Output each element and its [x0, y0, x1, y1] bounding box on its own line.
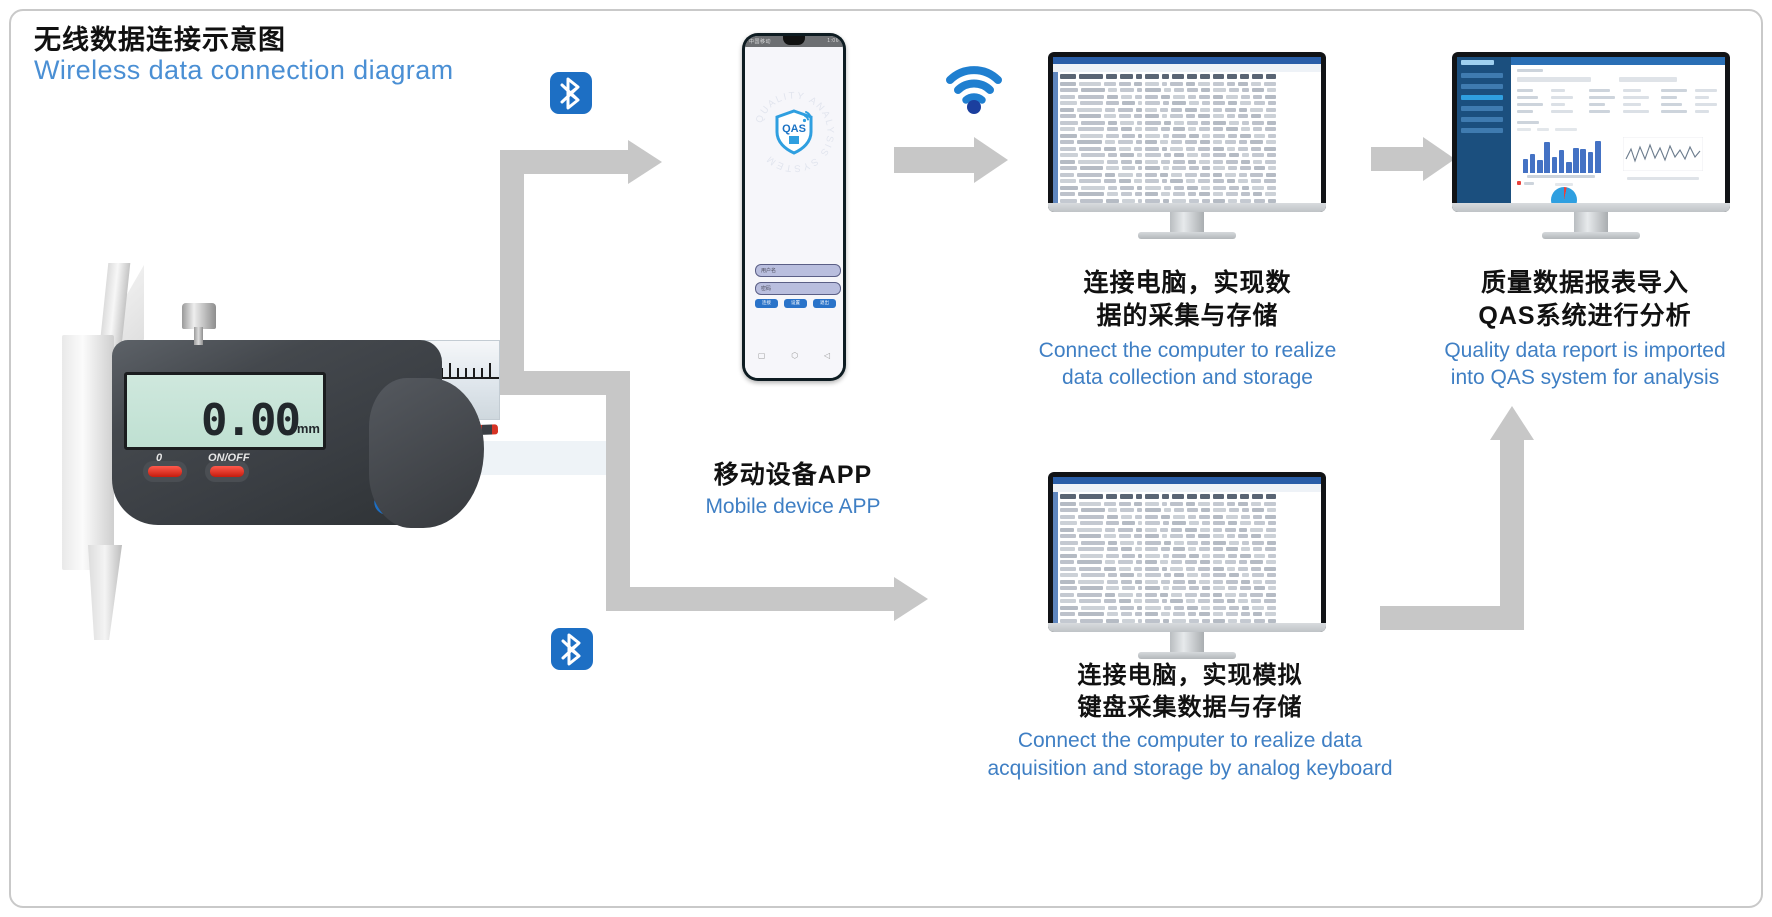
spreadsheet-view-2: [1053, 477, 1321, 623]
table-cell: [1136, 140, 1142, 144]
table-cell: [1161, 192, 1170, 196]
dashboard-section-title-2: [1517, 121, 1539, 124]
table-cell: [1201, 573, 1210, 577]
caliper-power-button[interactable]: [210, 466, 244, 477]
table-cell: [1161, 612, 1170, 616]
table-cell: [1138, 586, 1142, 590]
table-row: [1060, 508, 1318, 512]
table-cell: [1162, 82, 1167, 86]
table-cell: [1213, 502, 1224, 506]
table-cell: [1104, 179, 1116, 183]
dashboard-nav-item-6[interactable]: [1461, 128, 1503, 133]
table-row: [1060, 140, 1318, 144]
table-row: [1060, 567, 1318, 571]
table-row: [1060, 166, 1318, 170]
table-cell: [1105, 140, 1115, 144]
table-cell: [1145, 192, 1158, 196]
dashboard-pie-chart: [1551, 187, 1577, 203]
table-cell: [1060, 127, 1075, 131]
table-cell: [1120, 74, 1133, 79]
table-cell: [1077, 593, 1102, 597]
table-row: [1060, 108, 1318, 112]
table-cell: [1264, 114, 1276, 118]
table-cell: [1186, 567, 1195, 571]
circle-icon[interactable]: ⬡: [791, 351, 798, 360]
table-cell: [1200, 173, 1210, 177]
table-cell: [1265, 127, 1276, 131]
table-cell: [1119, 599, 1131, 603]
table-cell: [1080, 199, 1103, 203]
table-cell: [1228, 586, 1237, 590]
table-cell: [1268, 199, 1276, 203]
dashboard-filter-1[interactable]: [1517, 77, 1591, 82]
table-cell: [1079, 82, 1101, 86]
dashboard-chart-tab-3[interactable]: [1555, 128, 1577, 131]
table-cell: [1135, 127, 1142, 131]
table-cell: [1188, 612, 1196, 616]
dashboard-nav-item-1[interactable]: [1461, 73, 1503, 78]
table-cell: [1238, 599, 1248, 603]
bar: [1544, 142, 1550, 173]
qas-dashboard: [1457, 57, 1725, 203]
table-cell: [1135, 95, 1142, 99]
arrow-head-to-keyboard-pc: [894, 577, 928, 621]
caption-qas-dashboard-en: Quality data report is imported into QAS…: [1410, 337, 1760, 392]
table-cell: [1145, 494, 1159, 499]
table-row: [1060, 199, 1318, 203]
table-cell: [1238, 82, 1248, 86]
table-cell: [1227, 502, 1235, 506]
table-cell: [1121, 127, 1132, 131]
table-cell: [1226, 612, 1238, 616]
table-cell: [1252, 74, 1263, 79]
table-cell: [1138, 619, 1142, 623]
table-cell: [1163, 166, 1169, 170]
table-cell: [1240, 74, 1249, 79]
table-row: [1060, 186, 1318, 190]
table-cell: [1213, 173, 1222, 177]
table-cell: [1162, 114, 1167, 118]
table-cell: [1060, 567, 1076, 571]
table-cell: [1060, 586, 1077, 590]
caliper-zero-button[interactable]: [148, 466, 182, 477]
table-cell: [1254, 619, 1265, 623]
monitor2-screen: [1457, 57, 1725, 203]
phone-status-carrier: 中国移动: [749, 38, 771, 45]
table-cell: [1106, 74, 1117, 79]
table-cell: [1134, 567, 1142, 571]
table-cell: [1238, 179, 1248, 183]
table-cell: [1252, 153, 1264, 157]
arrow-head-to-phone: [628, 140, 662, 184]
dashboard-kv-value: [1551, 103, 1565, 106]
table-cell: [1060, 541, 1078, 545]
table-cell: [1213, 186, 1226, 190]
table-cell: [1080, 134, 1103, 138]
table-cell: [1060, 153, 1078, 157]
table-row: [1060, 560, 1318, 564]
table-cell: [1108, 186, 1117, 190]
table-cell: [1081, 186, 1105, 190]
table-cell: [1202, 521, 1210, 525]
table-cell: [1105, 593, 1115, 597]
table-cell: [1145, 593, 1157, 597]
table-cell: [1060, 134, 1077, 138]
table-cell: [1121, 612, 1132, 616]
table-cell: [1161, 547, 1170, 551]
table-cell: [1118, 528, 1133, 532]
table-cell: [1199, 127, 1210, 131]
table-cell: [1242, 573, 1249, 577]
table-cell: [1189, 134, 1199, 138]
table-cell: [1145, 173, 1157, 177]
table-cell: [1264, 534, 1276, 538]
table-cell: [1119, 82, 1131, 86]
table-cell: [1254, 101, 1265, 105]
dashboard-kv-value: [1623, 110, 1649, 113]
bar: [1573, 148, 1579, 173]
table-cell: [1108, 508, 1117, 512]
phone-connect-button[interactable]: 连接: [755, 299, 778, 308]
phone-settings-button[interactable]: 设置: [784, 299, 807, 308]
table-row: [1060, 619, 1318, 623]
table-cell: [1240, 101, 1251, 105]
dashboard-kv-value: [1623, 103, 1641, 106]
table-cell: [1241, 515, 1250, 519]
back-icon[interactable]: ◁: [824, 351, 830, 360]
dashboard-filter-2[interactable]: [1619, 77, 1677, 82]
table-cell: [1122, 554, 1135, 558]
table-cell: [1229, 541, 1239, 545]
square-icon[interactable]: ▢: [758, 351, 766, 360]
table-cell: [1104, 599, 1116, 603]
table-cell: [1186, 599, 1195, 603]
caliper-lcd-unit: mm: [297, 421, 320, 436]
table-cell: [1118, 173, 1133, 177]
table-cell: [1163, 521, 1169, 525]
table-cell: [1145, 114, 1159, 118]
table-cell: [1198, 114, 1210, 118]
table-cell: [1106, 134, 1119, 138]
table-cell: [1186, 534, 1195, 538]
table-cell: [1122, 166, 1135, 170]
table-cell: [1264, 82, 1276, 86]
table-cell: [1122, 101, 1135, 105]
table-cell: [1202, 199, 1210, 203]
table-cell: [1199, 192, 1210, 196]
table-cell: [1145, 521, 1160, 525]
table-cell: [1253, 127, 1262, 131]
table-cell: [1227, 74, 1237, 79]
table-cell: [1253, 547, 1262, 551]
table-cell: [1172, 134, 1186, 138]
table-cell: [1173, 127, 1185, 131]
table-cell: [1171, 108, 1182, 112]
table-cell: [1134, 599, 1142, 603]
table-cell: [1200, 108, 1210, 112]
dashboard-nav-item-3[interactable]: [1461, 95, 1503, 100]
table-cell: [1078, 612, 1104, 616]
table-cell: [1228, 101, 1237, 105]
dashboard-chart-tab-2[interactable]: [1537, 128, 1549, 131]
table-cell: [1213, 508, 1226, 512]
table-cell: [1251, 534, 1261, 538]
table-cell: [1229, 153, 1239, 157]
caliper-head-body: 0.00 mm 0 ON/OFF: [112, 340, 442, 525]
table-cell: [1160, 593, 1168, 597]
table-cell: [1213, 606, 1226, 610]
table-cell: [1145, 95, 1158, 99]
table-cell: [1060, 199, 1077, 203]
table-cell: [1227, 179, 1235, 183]
table-row: [1060, 88, 1318, 92]
caliper-zero-button-label: 0: [156, 452, 162, 464]
table-cell: [1079, 502, 1101, 506]
table-cell: [1138, 166, 1142, 170]
table-cell: [1252, 494, 1263, 499]
table-cell: [1106, 619, 1119, 623]
table-cell: [1145, 560, 1157, 564]
table-cell: [1060, 508, 1078, 512]
table-cell: [1164, 541, 1171, 545]
table-cell: [1186, 82, 1195, 86]
table-cell: [1266, 494, 1276, 499]
caption-analog-keyboard-cn: 连接电脑，实现模拟 键盘采集数据与存储: [920, 660, 1460, 724]
table-cell: [1213, 567, 1224, 571]
table-cell: [1134, 534, 1142, 538]
table-cell: [1189, 619, 1199, 623]
caption-data-collection-en: Connect the computer to realize data col…: [1020, 337, 1355, 392]
table-cell: [1135, 192, 1142, 196]
table-cell: [1198, 82, 1210, 86]
phone-password-field[interactable]: 密码: [755, 282, 841, 295]
dashboard-kv-key: [1517, 96, 1538, 99]
caliper-jaw-fixed: [62, 335, 114, 570]
caption-qas-dashboard-cn: 质量数据报表导入 QAS系统进行分析: [1410, 267, 1760, 334]
table-cell: [1136, 560, 1142, 564]
table-cell: [1213, 593, 1222, 597]
arrow-pc1-to-pc2: [1371, 147, 1425, 171]
table-cell: [1121, 515, 1132, 519]
phone-exit-button[interactable]: 退出: [813, 299, 836, 308]
dashboard-kv-value: [1695, 89, 1717, 92]
table-cell: [1174, 186, 1184, 190]
table-cell: [1188, 127, 1196, 131]
table-cell: [1079, 534, 1101, 538]
table-cell: [1145, 612, 1158, 616]
table-cell: [1060, 101, 1077, 105]
table-cell: [1267, 88, 1276, 92]
table-cell: [1118, 593, 1133, 597]
table-row: [1060, 521, 1318, 525]
table-cell: [1202, 586, 1210, 590]
table-cell: [1187, 88, 1198, 92]
table-cell: [1107, 515, 1118, 519]
table-cell: [1200, 528, 1210, 532]
table-cell: [1268, 619, 1276, 623]
phone-username-field[interactable]: 用户名: [755, 264, 841, 277]
dashboard-kv-key: [1589, 89, 1610, 92]
table-cell: [1226, 515, 1238, 519]
table-row: [1060, 147, 1318, 151]
table-cell: [1199, 95, 1210, 99]
spreadsheet-sidebar: [1053, 72, 1058, 203]
table-cell: [1171, 173, 1182, 177]
table-cell: [1264, 147, 1276, 151]
dashboard-nav-item-5[interactable]: [1461, 117, 1503, 122]
caliper-tick: [465, 368, 467, 377]
table-cell: [1118, 108, 1133, 112]
bar: [1595, 141, 1601, 173]
caption-data-collection-cn: 连接电脑，实现数 据的采集与存储: [1020, 267, 1355, 334]
table-cell: [1172, 166, 1186, 170]
table-cell: [1202, 554, 1210, 558]
table-cell: [1228, 199, 1237, 203]
table-cell: [1164, 508, 1171, 512]
table-cell: [1136, 494, 1142, 499]
table-cell: [1200, 494, 1210, 499]
table-cell: [1145, 554, 1160, 558]
table-cell: [1213, 140, 1222, 144]
table-cell: [1185, 560, 1197, 564]
table-cell: [1250, 140, 1263, 144]
caliper-lcd-display: 0.00 mm: [124, 372, 326, 450]
spreadsheet2-grid: [1060, 494, 1318, 620]
table-cell: [1080, 586, 1103, 590]
table-cell: [1241, 95, 1250, 99]
table-cell: [1173, 547, 1185, 551]
table-cell: [1171, 560, 1182, 564]
dashboard-nav-item-2[interactable]: [1461, 84, 1503, 89]
table-cell: [1227, 114, 1235, 118]
monitor2-base: [1542, 232, 1640, 239]
table-cell: [1160, 140, 1168, 144]
table-cell: [1078, 547, 1104, 551]
table-cell: [1241, 612, 1250, 616]
table-cell: [1267, 541, 1276, 545]
monitor-analog-keyboard: [1048, 472, 1326, 657]
table-cell: [1162, 502, 1167, 506]
table-cell: [1213, 541, 1226, 545]
dashboard-line-chart: [1623, 137, 1703, 171]
dashboard-kv-value: [1623, 89, 1641, 92]
table-cell: [1060, 560, 1074, 564]
table-cell: [1252, 88, 1264, 92]
table-cell: [1264, 567, 1276, 571]
diagram-canvas: 无线数据连接示意图 Wireless data connection diagr…: [0, 0, 1772, 917]
table-cell: [1171, 528, 1182, 532]
table-cell: [1201, 508, 1210, 512]
spreadsheet-titlebar: [1053, 57, 1321, 64]
table-cell: [1264, 502, 1276, 506]
table-cell: [1145, 127, 1158, 131]
table-cell: [1060, 547, 1075, 551]
table-cell: [1213, 179, 1224, 183]
table-cell: [1199, 547, 1210, 551]
table-cell: [1254, 199, 1265, 203]
table-cell: [1145, 567, 1159, 571]
table-cell: [1213, 82, 1224, 86]
table-cell: [1229, 606, 1239, 610]
table-cell: [1060, 619, 1077, 623]
table-cell: [1213, 134, 1225, 138]
table-cell: [1198, 179, 1210, 183]
phone-password-placeholder: 密码: [761, 285, 771, 292]
table-cell: [1135, 612, 1142, 616]
table-cell: [1200, 560, 1210, 564]
table-cell: [1145, 121, 1161, 125]
table-cell: [1105, 528, 1115, 532]
table-cell: [1213, 599, 1224, 603]
phone-exit-label: 退出: [813, 300, 836, 306]
table-row: [1060, 179, 1318, 183]
table-cell: [1060, 192, 1075, 196]
table-cell: [1202, 134, 1210, 138]
table-cell: [1106, 494, 1117, 499]
table-cell: [1213, 121, 1226, 125]
caliper-knob-stem: [194, 327, 203, 345]
table-cell: [1254, 586, 1265, 590]
table-cell: [1161, 580, 1170, 584]
table-cell: [1242, 88, 1249, 92]
table-cell: [1268, 101, 1276, 105]
table-cell: [1266, 560, 1276, 564]
table-cell: [1121, 95, 1132, 99]
table-cell: [1267, 186, 1276, 190]
spreadsheet2-sidebar: [1053, 492, 1058, 623]
dashboard-nav-item-4[interactable]: [1461, 106, 1503, 111]
table-cell: [1251, 502, 1261, 506]
phone-settings-label: 设置: [784, 300, 807, 306]
table-cell: [1173, 160, 1185, 164]
table-cell: [1060, 528, 1074, 532]
table-cell: [1268, 586, 1276, 590]
table-cell: [1266, 108, 1276, 112]
table-cell: [1162, 599, 1167, 603]
table-cell: [1188, 160, 1196, 164]
table-cell: [1107, 160, 1118, 164]
table-cell: [1136, 173, 1142, 177]
table-cell: [1145, 606, 1161, 610]
table-cell: [1229, 573, 1239, 577]
table-cell: [1145, 199, 1160, 203]
table-cell: [1187, 541, 1198, 545]
table-cell: [1251, 82, 1261, 86]
table-cell: [1252, 508, 1264, 512]
table-cell: [1134, 114, 1142, 118]
table-cell: [1119, 147, 1131, 151]
table-cell: [1060, 593, 1074, 597]
table-cell: [1160, 560, 1168, 564]
table-cell: [1239, 140, 1247, 144]
table-cell: [1213, 153, 1226, 157]
arrow-keyboard-to-qas-vertical: [1500, 440, 1524, 630]
table-cell: [1213, 101, 1225, 105]
table-cell: [1145, 166, 1160, 170]
table-cell: [1213, 586, 1225, 590]
table-cell: [1238, 567, 1248, 571]
table-row: [1060, 606, 1318, 610]
table-cell: [1078, 515, 1104, 519]
caliper-fine-adjust-knob[interactable]: [182, 303, 216, 329]
table-cell: [1122, 134, 1135, 138]
table-row: [1060, 173, 1318, 177]
dashboard-chart-tab-1[interactable]: [1517, 128, 1531, 131]
table-cell: [1138, 134, 1142, 138]
table-cell: [1250, 528, 1263, 532]
table-row: [1060, 134, 1318, 138]
table-cell: [1251, 179, 1261, 183]
